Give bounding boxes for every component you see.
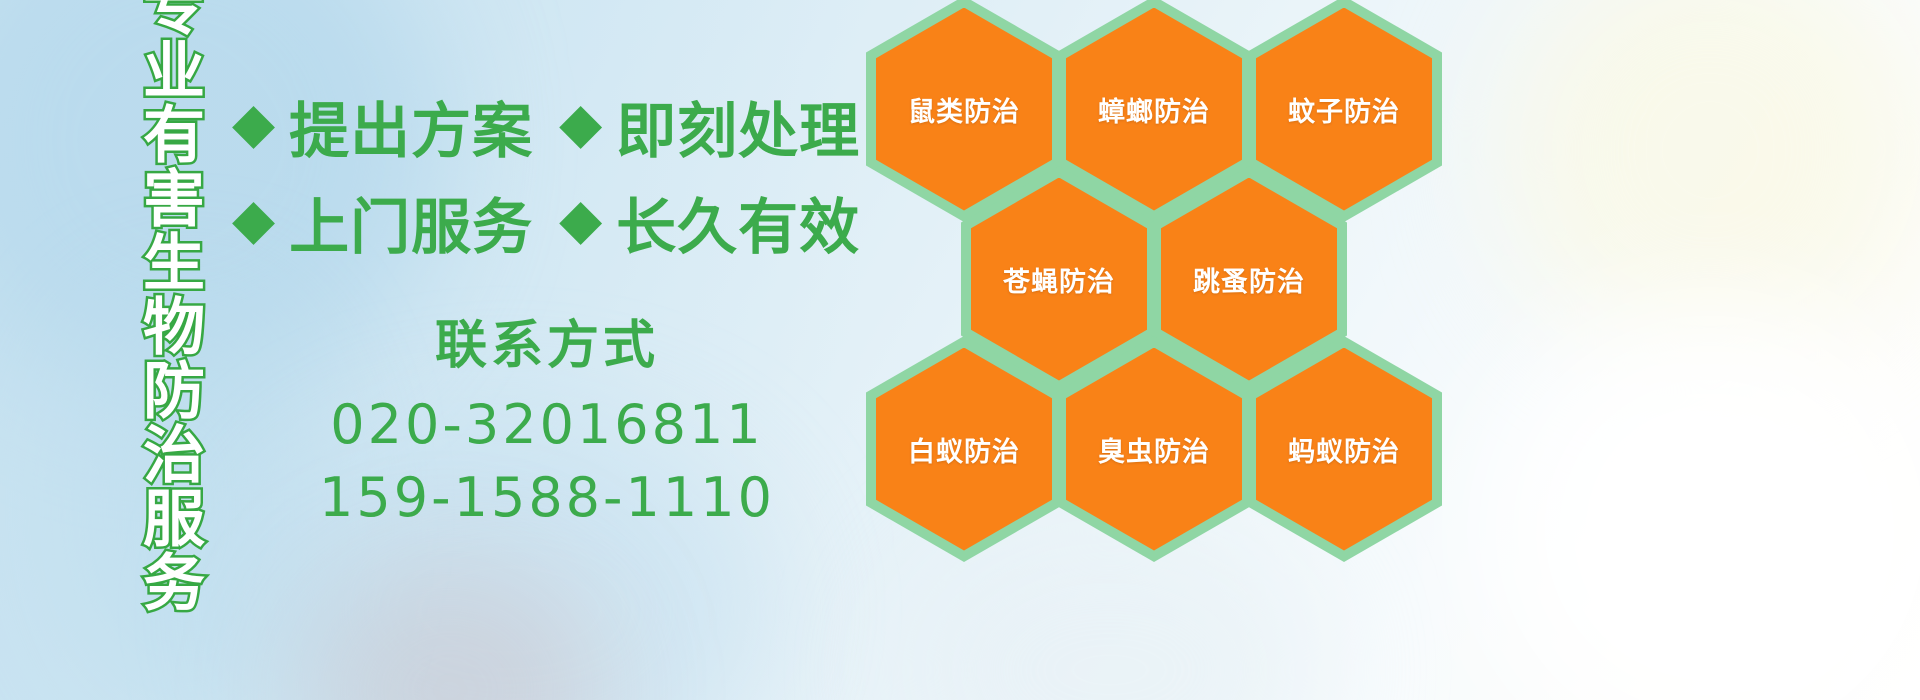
slogan-item: ◆ 长久有效: [559, 179, 860, 266]
background-blob: [300, 560, 600, 700]
slogan-row: ◆ 上门服务 ◆ 长久有效: [232, 174, 872, 270]
service-label: 蚂蚁防治: [1288, 430, 1400, 469]
hex-inner: 蚊子防治: [1256, 8, 1432, 211]
slogan-item: ◆ 即刻处理: [559, 83, 860, 170]
service-label: 蟑螂防治: [1098, 90, 1210, 129]
hex-inner: 蚂蚁防治: [1256, 348, 1432, 551]
background-blob: [1480, 300, 1920, 700]
contact-block: 联系方式 020-32016811 159-1588-1110: [312, 318, 782, 534]
pest-control-banner: 专业有害生物防治服务 ◆ 提出方案 ◆ 即刻处理 ◆ 上门服务 ◆ 长久有效: [0, 0, 1920, 700]
slogan-label: 上门服务: [289, 179, 533, 266]
service-label: 跳蚤防治: [1193, 260, 1305, 299]
diamond-bullet-icon: ◆: [232, 192, 275, 248]
slogan-label: 长久有效: [616, 179, 860, 266]
background-blob: [1500, 0, 1920, 360]
diamond-bullet-icon: ◆: [559, 96, 602, 152]
service-label: 白蚁防治: [908, 430, 1020, 469]
service-label: 鼠类防治: [908, 90, 1020, 129]
service-honeycomb: 鼠类防治 蟑螂防治 蚊子防治 苍蝇防治 跳蚤防治 白蚁防治: [858, 0, 1458, 548]
slogan-item: ◆ 上门服务: [232, 179, 533, 266]
service-label: 臭虫防治: [1098, 430, 1210, 469]
service-label: 苍蝇防治: [1003, 260, 1115, 299]
slogan-label: 提出方案: [289, 83, 533, 170]
contact-phone-mobile[interactable]: 159-1588-1110: [312, 462, 782, 534]
slogan-item: ◆ 提出方案: [232, 83, 533, 170]
slogan-row: ◆ 提出方案 ◆ 即刻处理: [232, 78, 872, 174]
contact-phone-landline[interactable]: 020-32016811: [312, 389, 782, 461]
vertical-brand-title: 专业有害生物防治服务: [105, 14, 201, 574]
diamond-bullet-icon: ◆: [559, 192, 602, 248]
hex-inner: 白蚁防治: [876, 348, 1052, 551]
hex-inner: 臭虫防治: [1066, 348, 1242, 551]
contact-title: 联系方式: [312, 318, 782, 375]
slogan-label: 即刻处理: [616, 83, 860, 170]
service-label: 蚊子防治: [1288, 90, 1400, 129]
slogan-block: ◆ 提出方案 ◆ 即刻处理 ◆ 上门服务 ◆ 长久有效: [232, 78, 872, 270]
hex-inner: 鼠类防治: [876, 8, 1052, 211]
hex-inner: 苍蝇防治: [971, 178, 1147, 381]
diamond-bullet-icon: ◆: [232, 96, 275, 152]
hex-inner: 跳蚤防治: [1161, 178, 1337, 381]
hex-inner: 蟑螂防治: [1066, 8, 1242, 211]
